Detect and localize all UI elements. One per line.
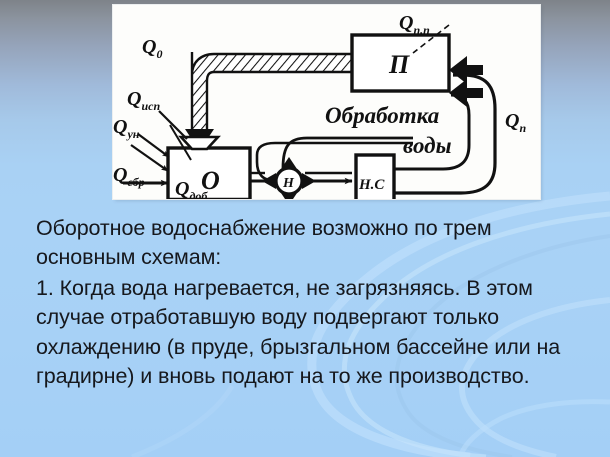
label-q-pp: Qп.п: [399, 12, 430, 37]
annotation-treatment-line-1: Обработка: [325, 103, 439, 128]
slide-body-text: Оборотное водоснабжение возможно по трем…: [36, 214, 588, 391]
label-q-sbr: Qсбр: [113, 164, 145, 189]
paragraph-intro: Оборотное водоснабжение возможно по трем…: [36, 214, 588, 273]
block-label-o: О: [201, 166, 220, 195]
paragraph-item-1: 1. Когда вода нагревается, не загрязняяс…: [36, 274, 588, 392]
block-label-ns: Н.С: [358, 177, 385, 193]
water-recirculation-schematic: Q0 Qисп Qун Qсбр Qдоб Qп.п Qп П О Н.С Н …: [113, 5, 540, 199]
label-q-p: Qп: [505, 110, 526, 135]
annotation-treatment-line-2: воды: [403, 133, 452, 158]
label-q-un: Qун: [113, 116, 140, 141]
label-q-0: Q0: [142, 36, 162, 61]
label-q-isp: Qисп: [127, 88, 160, 113]
diagram-image-panel: Q0 Qисп Qун Qсбр Qдоб Qп.п Qп П О Н.С Н …: [113, 5, 540, 199]
slide: Q0 Qисп Qун Qсбр Qдоб Qп.п Qп П О Н.С Н …: [0, 0, 610, 457]
block-label-p: П: [388, 50, 410, 79]
block-label-pump: Н: [282, 176, 295, 191]
